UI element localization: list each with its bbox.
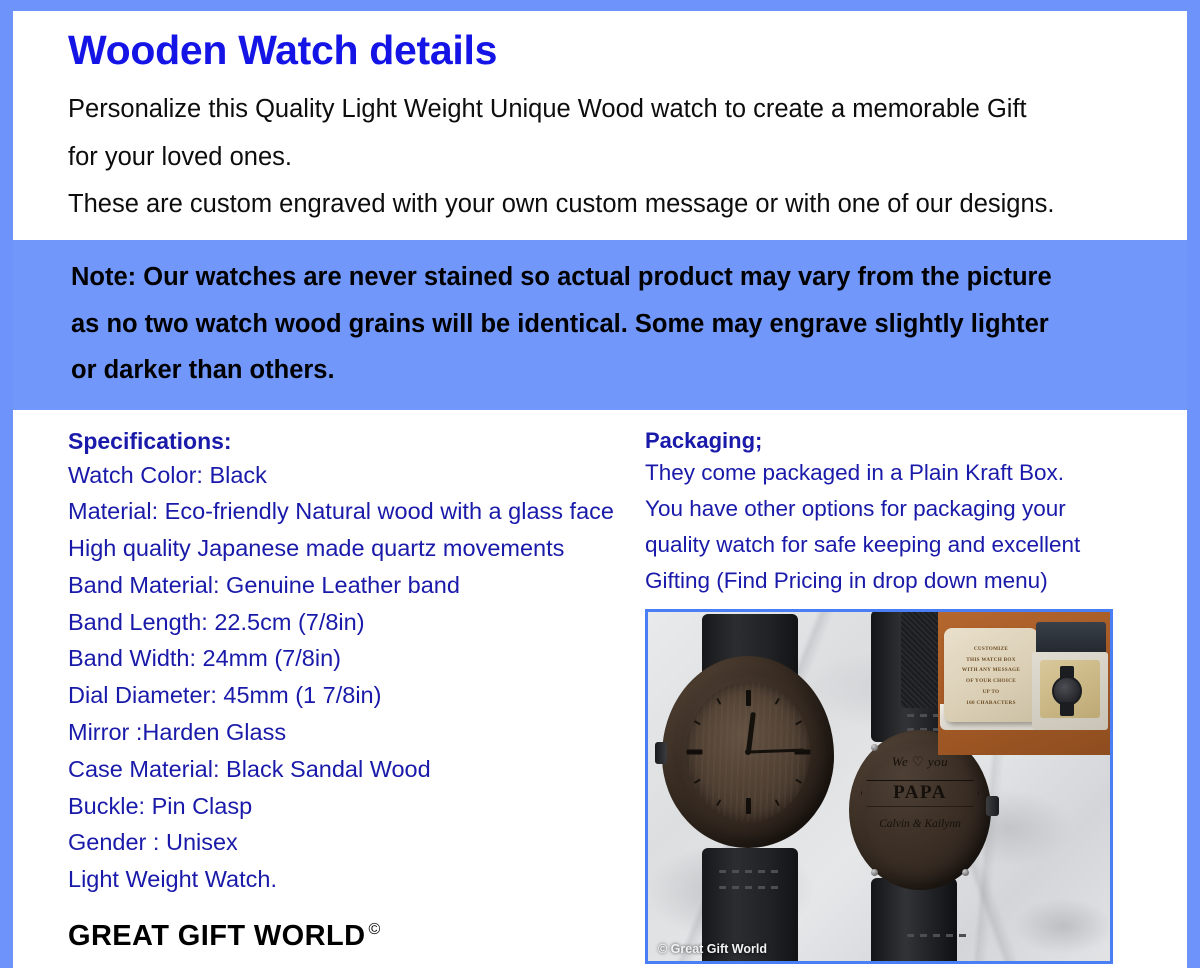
watch-crown-b <box>986 796 999 816</box>
engraving-line-1: We ♡ you <box>849 754 991 770</box>
packaging-line: quality watch for safe keeping and excel… <box>645 527 1186 563</box>
intro-line-3: These are custom engraved with your own … <box>68 181 1157 228</box>
heart-icon: ♡ <box>912 754 924 769</box>
packaging-heading: Packaging; <box>645 428 1186 454</box>
note-line-2: as no two watch wood grains will be iden… <box>71 301 1169 347</box>
intro-text: Personalize this Quality Light Weight Un… <box>13 74 1187 228</box>
packaging-line: Gifting (Find Pricing in drop down menu) <box>645 563 1186 599</box>
box-text-line-2: THIS WATCH BOX <box>966 657 1016 663</box>
dial-pivot <box>745 749 751 755</box>
engraving-suffix: you <box>928 754 948 769</box>
spec-item: Light Weight Watch. <box>68 861 631 898</box>
box-text-line-6: 160 CHARACTERS <box>966 700 1016 706</box>
product-info-graphic: Wooden Watch details Personalize this Qu… <box>0 0 1200 968</box>
spec-item: High quality Japanese made quartz moveme… <box>68 530 631 567</box>
boxed-watch <box>1048 666 1086 712</box>
box-text-line-1: CUSTOMIZE <box>974 646 1008 652</box>
open-gift-box <box>1032 622 1108 740</box>
packaging-inset-photo: CUSTOMIZE THIS WATCH BOX WITH ANY MESSAG… <box>938 612 1110 755</box>
spec-item: Buckle: Pin Clasp <box>68 788 631 825</box>
spec-item: Case Material: Black Sandal Wood <box>68 751 631 788</box>
box-text-line-3: WITH ANY MESSAGE <box>962 667 1020 673</box>
engraving-banner: PAPA <box>861 780 979 807</box>
engraving-banner-text: PAPA <box>893 782 947 804</box>
engraving-prefix: We <box>892 754 908 769</box>
spec-item: Band Width: 24mm (7/8in) <box>68 640 631 677</box>
intro-line-2: for your loved ones. <box>68 134 1157 181</box>
details-panel: Specifications: Watch Color: Black Mater… <box>13 410 1187 968</box>
note-line-3: or darker than others. <box>71 347 1169 393</box>
packaging-line: They come packaged in a Plain Kraft Box. <box>645 455 1186 491</box>
intro-line-1: Personalize this Quality Light Weight Un… <box>68 86 1157 133</box>
watch-front-view <box>654 616 839 964</box>
spec-item: Gender : Unisex <box>68 824 631 861</box>
photo-watermark: © Great Gift World <box>658 942 767 956</box>
page-title: Wooden Watch details <box>13 27 1187 74</box>
watch-dial <box>686 682 810 822</box>
box-text-line-4: OF YOUR CHOICE <box>966 678 1016 684</box>
note-line-1: Note: Our watches are never stained so a… <box>71 254 1169 300</box>
spec-item: Band Length: 22.5cm (7/8in) <box>68 604 631 641</box>
copyright-icon: © <box>368 921 380 938</box>
intro-panel: Wooden Watch details Personalize this Qu… <box>13 11 1187 240</box>
product-photo: We ♡ you PAPA Calvin & Kailynn <box>645 609 1113 964</box>
spec-item: Dial Diameter: 45mm (1 7/8in) <box>68 677 631 714</box>
watch-strap-lower-b <box>871 878 957 964</box>
specifications-heading: Specifications: <box>68 428 631 455</box>
brand-name: GREAT GIFT WORLD <box>68 920 365 952</box>
spec-item: Mirror :Harden Glass <box>68 714 631 751</box>
spec-item: Watch Color: Black <box>68 457 631 494</box>
kraft-box-lid: CUSTOMIZE THIS WATCH BOX WITH ANY MESSAG… <box>944 628 1038 722</box>
note-banner: Note: Our watches are never stained so a… <box>13 240 1187 409</box>
watch-case <box>662 656 834 848</box>
packaging-column: Packaging; They come packaged in a Plain… <box>631 428 1187 964</box>
box-text-line-5: UP TO <box>983 689 1000 695</box>
spec-item: Band Material: Genuine Leather band <box>68 567 631 604</box>
spec-item: Material: Eco-friendly Natural wood with… <box>68 493 631 530</box>
watch-crown <box>655 742 667 764</box>
packaging-line: You have other options for packaging you… <box>645 491 1186 527</box>
specifications-column: Specifications: Watch Color: Black Mater… <box>13 428 631 953</box>
brand-logo: GREAT GIFT WORLD© <box>68 920 631 953</box>
engraving-names: Calvin & Kailynn <box>849 818 991 830</box>
